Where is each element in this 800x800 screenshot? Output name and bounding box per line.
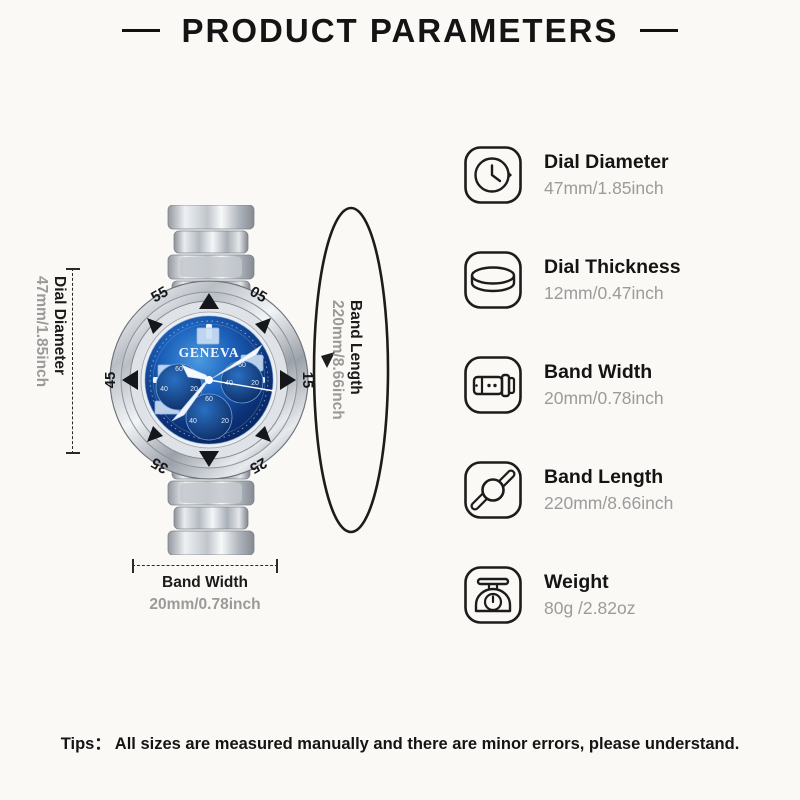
spec-value: 12mm/0.47inch xyxy=(544,282,681,305)
spec-row-dial-thickness: Dial Thickness 12mm/0.47inch xyxy=(462,245,782,315)
svg-text:20: 20 xyxy=(221,418,229,425)
band-length-callout-label: Band Length xyxy=(346,300,364,395)
dial-diameter-callout-title: Dial Diameter xyxy=(50,276,68,375)
dial-diameter-callout-label: Dial Diameter xyxy=(50,276,68,375)
spec-label: Band Width xyxy=(544,360,664,384)
svg-text:40: 40 xyxy=(160,386,168,393)
svg-text:60: 60 xyxy=(205,396,213,403)
spec-row-band-width: Band Width 20mm/0.78inch xyxy=(462,350,782,420)
dial-diameter-callout-value: 47mm/1.85inch xyxy=(33,276,50,387)
spec-value: 20mm/0.78inch xyxy=(544,387,664,410)
band-length-callout-value: 220mm/8.66inch xyxy=(329,300,346,420)
title-right-dash-icon xyxy=(640,29,678,32)
spec-list: Dial Diameter 47mm/1.85inch Dial Thickne… xyxy=(462,140,782,630)
spec-label: Dial Thickness xyxy=(544,255,681,279)
page-title-row: PRODUCT PARAMETERS xyxy=(0,14,800,47)
dial-brand-text: GENEVA xyxy=(179,345,240,360)
svg-text:40: 40 xyxy=(189,418,197,425)
svg-text:20: 20 xyxy=(251,380,259,387)
spec-value: 47mm/1.85inch xyxy=(544,177,669,200)
product-parameters-page: PRODUCT PARAMETERS xyxy=(0,0,800,800)
disc-thickness-icon xyxy=(462,249,524,311)
band-width-callout: Band Width 20mm/0.78inch xyxy=(112,572,298,616)
strap-icon xyxy=(462,459,524,521)
band-width-callout-title: Band Width xyxy=(112,572,298,594)
spec-label: Band Length xyxy=(544,465,673,489)
dial-diameter-dimension-line xyxy=(72,268,74,454)
buckle-icon xyxy=(462,354,524,416)
band-length-callout-title: Band Length xyxy=(347,300,364,395)
svg-text:45: 45 xyxy=(102,372,119,389)
product-photo: 05 15 25 35 45 55 xyxy=(96,205,326,555)
spec-label: Weight xyxy=(544,570,635,594)
page-title: PRODUCT PARAMETERS xyxy=(182,14,619,47)
title-left-dash-icon xyxy=(122,29,160,32)
spec-row-weight: Weight 80g /2.82oz xyxy=(462,560,782,630)
band-width-callout-value: 20mm/0.78inch xyxy=(112,594,298,616)
svg-text:60: 60 xyxy=(175,366,183,373)
scale-icon xyxy=(462,564,524,626)
spec-row-dial-diameter: Dial Diameter 47mm/1.85inch xyxy=(462,140,782,210)
watch-dial-icon xyxy=(462,144,524,206)
spec-label: Dial Diameter xyxy=(544,150,669,174)
watch-illustration: 05 15 25 35 45 55 xyxy=(96,205,326,555)
band-length-callout-value-wrap: 220mm/8.66inch xyxy=(328,300,346,420)
spec-value: 220mm/8.66inch xyxy=(544,492,673,515)
spec-row-band-length: Band Length 220mm/8.66inch xyxy=(462,455,782,525)
band-width-dimension-line xyxy=(132,565,278,567)
tips-note: Tips： All sizes are measured manually an… xyxy=(0,730,800,754)
dial-diameter-callout-value-wrap: 47mm/1.85inch xyxy=(32,276,50,387)
spec-value: 80g /2.82oz xyxy=(544,597,635,620)
